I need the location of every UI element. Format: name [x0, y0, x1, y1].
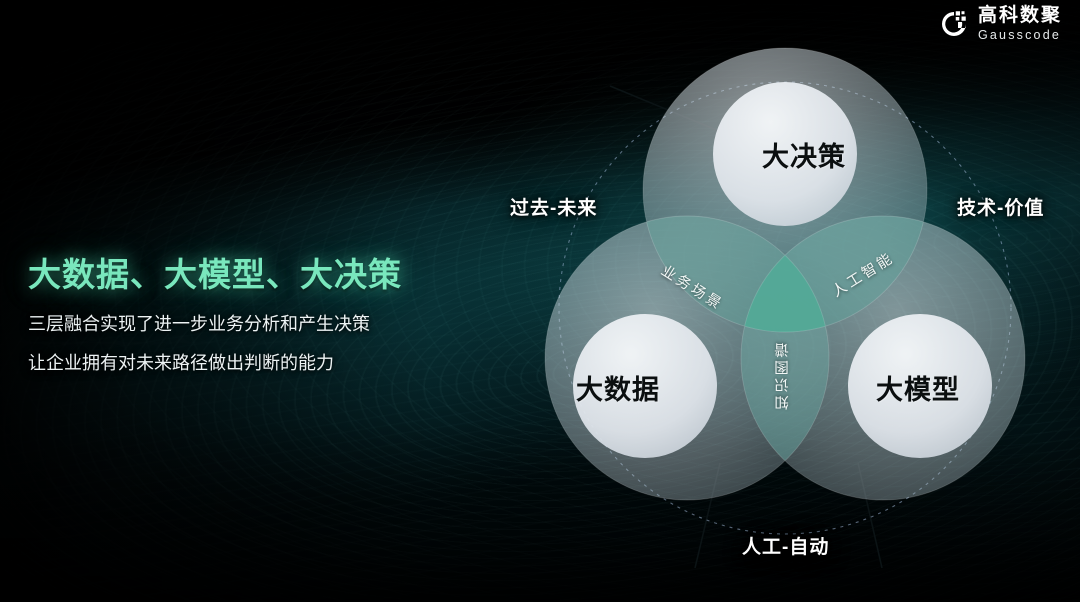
- core-label-left: 大数据: [576, 368, 660, 407]
- subtitle-line-2: 让企业拥有对未来路径做出判断的能力: [28, 354, 458, 374]
- axis-label-tech-value: 技术-价值: [957, 193, 1044, 220]
- core-label-right: 大模型: [876, 368, 960, 407]
- slide-canvas: 高科数聚 Gausscode 大数据、大模型、大决策 三层融合实现了进一步业务分…: [0, 0, 1080, 602]
- venn-svg: [490, 8, 1080, 598]
- venn-diagram: [490, 8, 1080, 598]
- copy-block: 大数据、大模型、大决策 三层融合实现了进一步业务分析和产生决策 让企业拥有对未来…: [28, 255, 458, 374]
- axis-label-manual-auto: 人工-自动: [742, 532, 829, 559]
- subtitle-line-1: 三层融合实现了进一步业务分析和产生决策: [28, 315, 458, 335]
- core-label-top: 大决策: [762, 135, 846, 174]
- intersection-label-knowledge-graph: 知识图谱: [772, 340, 793, 410]
- axis-label-past-future: 过去-未来: [510, 193, 597, 220]
- page-title: 大数据、大模型、大决策: [28, 255, 458, 295]
